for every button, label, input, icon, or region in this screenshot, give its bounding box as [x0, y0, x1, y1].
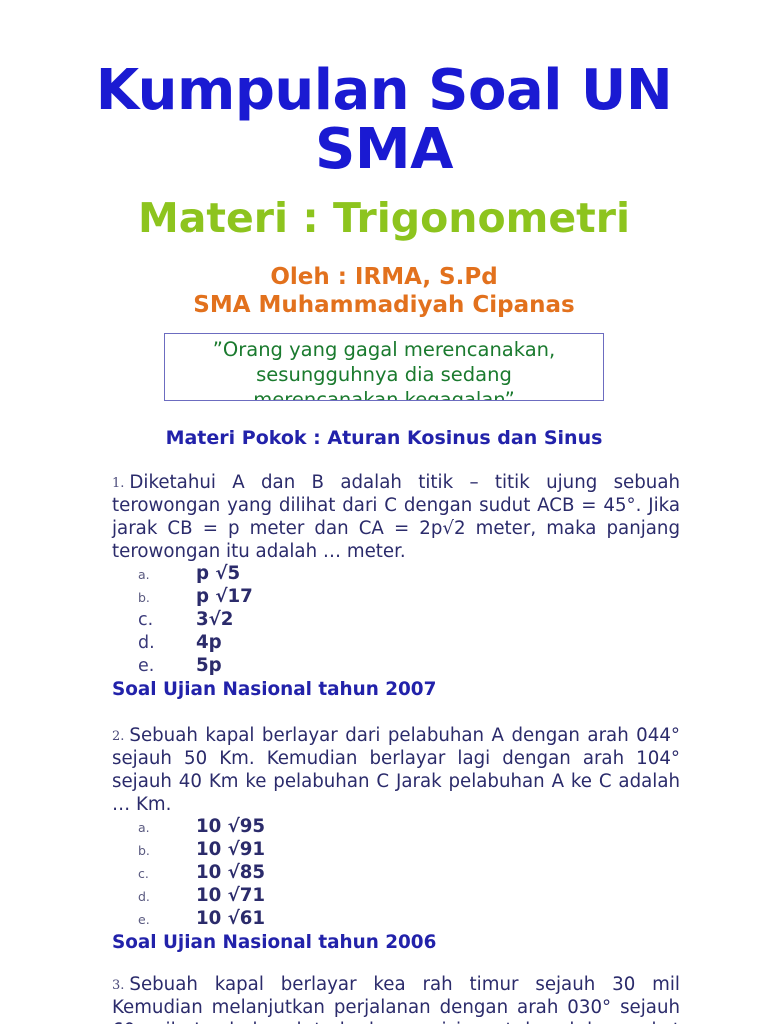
option-value: p √5 [196, 563, 240, 586]
question-item: 1.Diketahui A dan B adalah titik – titik… [112, 471, 680, 700]
option-item[interactable]: e. 10 √61 [138, 908, 680, 931]
quote-box-wrapper: ”Orang yang gagal merencanakan, sesunggu… [0, 333, 768, 401]
question-body: Diketahui A dan B adalah titik – titik u… [112, 472, 680, 562]
question-number: 2. [112, 729, 129, 744]
question-source: Soal Ujian Nasional tahun 2007 [112, 679, 680, 700]
question-source: Soal Ujian Nasional tahun 2006 [112, 932, 680, 953]
option-label: c. [138, 866, 196, 882]
author-name: Oleh : IRMA, S.Pd [0, 263, 768, 291]
option-value: 10 √71 [196, 885, 265, 908]
option-label: b. [138, 590, 196, 606]
question-text: 3.Sebuah kapal berlayar kea rah timur se… [112, 973, 680, 1024]
option-label: e. [138, 912, 196, 928]
option-label: d. [138, 889, 196, 905]
author-block: Oleh : IRMA, S.Pd SMA Muhammadiyah Cipan… [0, 241, 768, 319]
question-number: 1. [112, 476, 129, 491]
option-value: 4p [196, 632, 222, 655]
option-value: 10 √91 [196, 839, 265, 862]
options-list: a. p √5 b. p √17 c. 3√2 d. 4p e. 5p [112, 563, 680, 678]
page-title: Kumpulan Soal UN SMA [0, 0, 768, 180]
option-label: b. [138, 843, 196, 859]
question-number: 3. [112, 978, 129, 993]
option-label: a. [138, 820, 196, 836]
questions-container: 1.Diketahui A dan B adalah titik – titik… [0, 471, 768, 1024]
section-heading: Materi Pokok : Aturan Kosinus dan Sinus [0, 401, 768, 449]
option-value: 10 √95 [196, 816, 265, 839]
question-text: 1.Diketahui A dan B adalah titik – titik… [112, 471, 680, 563]
question-text: 2.Sebuah kapal berlayar dari pelabuhan A… [112, 724, 680, 816]
option-value: 5p [196, 655, 222, 678]
question-item: 2.Sebuah kapal berlayar dari pelabuhan A… [112, 724, 680, 953]
question-body: Sebuah kapal berlayar kea rah timur seja… [112, 974, 680, 1024]
option-value: p √17 [196, 586, 253, 609]
option-value: 10 √85 [196, 862, 265, 885]
spacer [112, 953, 680, 973]
document-page: Kumpulan Soal UN SMA Materi : Trigonomet… [0, 0, 768, 1024]
option-value: 3√2 [196, 609, 233, 632]
page-title-line2: SMA [315, 117, 453, 182]
page-subtitle: Materi : Trigonometri [0, 180, 768, 241]
option-item[interactable]: c. 3√2 [138, 609, 680, 632]
option-item[interactable]: d. 4p [138, 632, 680, 655]
option-label: d. [138, 632, 196, 654]
option-item[interactable]: e. 5p [138, 655, 680, 678]
option-label: a. [138, 567, 196, 583]
option-item[interactable]: a. 10 √95 [138, 816, 680, 839]
page-title-line1: Kumpulan Soal UN [96, 58, 673, 123]
quote-line-1: ”Orang yang gagal merencanakan, [165, 338, 603, 363]
author-school: SMA Muhammadiyah Cipanas [0, 291, 768, 319]
question-body: Sebuah kapal berlayar dari pelabuhan A d… [112, 725, 680, 815]
option-item[interactable]: d. 10 √71 [138, 885, 680, 908]
question-item: 3.Sebuah kapal berlayar kea rah timur se… [112, 973, 680, 1024]
quote-line-2: sesungguhnya dia sedang [165, 363, 603, 388]
option-label: e. [138, 655, 196, 677]
option-label: c. [138, 609, 196, 631]
quote-line-3-clipped: merencanakan kegagalan” [165, 388, 603, 401]
option-value: 10 √61 [196, 908, 265, 931]
quote-box: ”Orang yang gagal merencanakan, sesunggu… [164, 333, 604, 401]
spacer [112, 700, 680, 724]
options-list: a. 10 √95 b. 10 √91 c. 10 √85 d. 10 √71 … [112, 816, 680, 931]
option-item[interactable]: b. p √17 [138, 586, 680, 609]
option-item[interactable]: a. p √5 [138, 563, 680, 586]
option-item[interactable]: c. 10 √85 [138, 862, 680, 885]
option-item[interactable]: b. 10 √91 [138, 839, 680, 862]
